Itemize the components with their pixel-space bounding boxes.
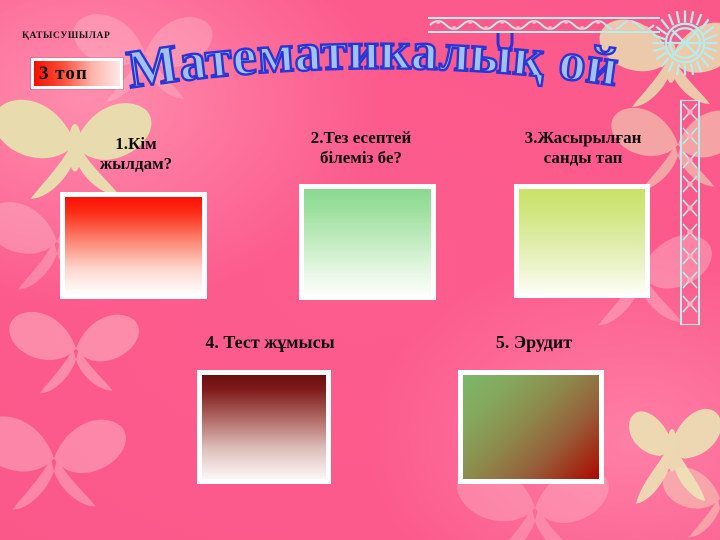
menu-item-4[interactable]: 4. Тест жұмысы [168, 332, 372, 490]
kazakh-sun-ornament-icon [648, 6, 720, 85]
title-text: Математикалық ойын [103, 0, 623, 100]
menu-box-diagonal[interactable] [458, 370, 604, 484]
menu-item-1[interactable]: 1.Кім жылдам? [44, 134, 228, 299]
menu-item-3-label: 3.Жасырылған санды тап [486, 128, 680, 168]
menu-item-5[interactable]: 5. Эрудит [444, 332, 624, 490]
menu-item-2[interactable]: 2.Тез есептей білеміз бе? [268, 128, 454, 300]
kazakh-vertical-band-icon [679, 100, 701, 330]
butterfly-silhouette [660, 455, 720, 540]
menu-item-5-label: 5. Эрудит [444, 332, 624, 353]
menu-item-2-label: 2.Тез есептей білеміз бе? [268, 128, 454, 168]
menu-box-green[interactable] [299, 184, 436, 300]
participants-label: ҚАТЫСУШЫЛАР [22, 31, 110, 41]
presentation-slide: ҚАТЫСУШЫЛАР 3 топ Математикалық ойын 1.К… [0, 0, 720, 540]
butterfly-silhouette [6, 300, 146, 400]
page-title: Математикалық ойын [124, 24, 624, 112]
butterfly-silhouette [0, 400, 134, 520]
menu-item-1-label: 1.Кім жылдам? [44, 134, 228, 174]
menu-box-red[interactable] [60, 192, 207, 299]
group-badge: 3 топ [31, 58, 123, 89]
menu-item-3[interactable]: 3.Жасырылған санды тап [486, 128, 680, 300]
menu-item-4-label: 4. Тест жұмысы [168, 332, 372, 353]
group-badge-text: 3 топ [34, 64, 88, 83]
menu-box-maroon[interactable] [197, 370, 331, 484]
menu-box-lime[interactable] [514, 184, 650, 298]
butterfly-silhouette [612, 388, 720, 518]
